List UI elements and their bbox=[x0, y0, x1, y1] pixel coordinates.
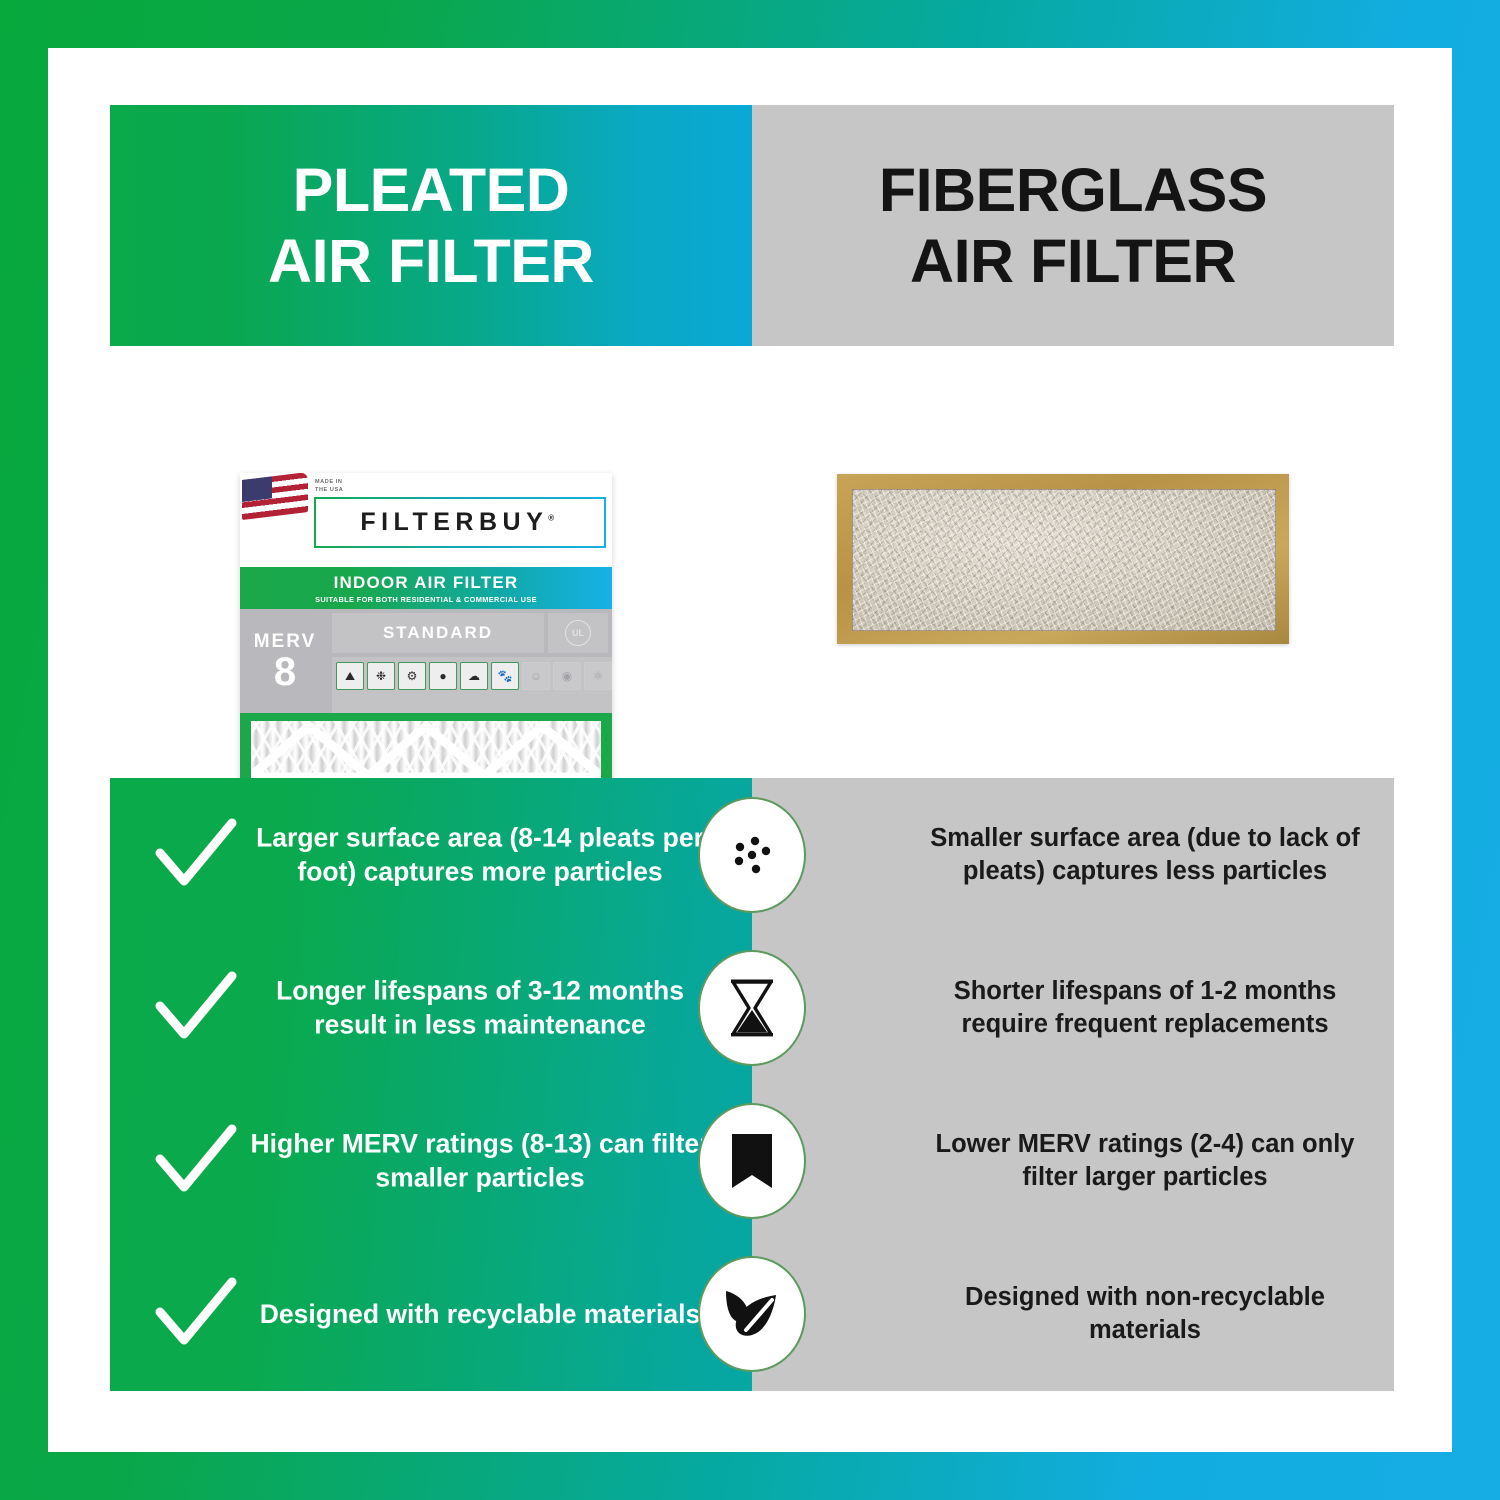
pleated-benefit-text: Higher MERV ratings (8-13) can filter sm… bbox=[240, 1126, 720, 1195]
capture-feature-icon-strip: ⛰ ❉ ⚙ ● ☁ 🐾 ☺ ◉ ⚛ bbox=[332, 657, 612, 719]
row-icon-badge bbox=[698, 1256, 806, 1372]
row-icon-badge bbox=[698, 1103, 806, 1219]
pleated-benefit-text: Larger surface area (8-14 pleats per foo… bbox=[240, 820, 720, 889]
dust-particles-icon: ☁ bbox=[460, 662, 488, 690]
pleated-benefit-text: Designed with recyclable materials bbox=[240, 1296, 720, 1330]
usa-flag-icon bbox=[242, 473, 308, 520]
made-in-line2: THE USA bbox=[315, 486, 343, 494]
leaf-icon bbox=[722, 1285, 782, 1343]
comparison-row: Higher MERV ratings (8-13) can filter sm… bbox=[110, 1084, 1394, 1237]
virus-icon: ⚛ bbox=[584, 662, 612, 690]
comparison-band: Larger surface area (8-14 pleats per foo… bbox=[110, 778, 1394, 1391]
pet-dander-icon: 🐾 bbox=[491, 662, 519, 690]
comparison-row: Longer lifespans of 3-12 months result i… bbox=[110, 931, 1394, 1084]
particles-icon bbox=[722, 825, 782, 885]
banner-title: INDOOR AIR FILTER bbox=[334, 573, 519, 593]
pleated-benefit-text: Longer lifespans of 3-12 months result i… bbox=[240, 973, 720, 1042]
indoor-air-filter-banner: INDOOR AIR FILTER SUITABLE FOR BOTH RESI… bbox=[240, 567, 612, 609]
merv-value: 8 bbox=[274, 653, 296, 691]
checkmark-icon bbox=[150, 962, 242, 1054]
fiberglass-drawback-text: Shorter lifespans of 1-2 months require … bbox=[910, 974, 1380, 1040]
fiberglass-drawback-text: Designed with non-recyclable materials bbox=[910, 1280, 1380, 1346]
fiberglass-drawback-text: Smaller surface area (due to lack of ple… bbox=[910, 821, 1380, 887]
banner-subtitle: SUITABLE FOR BOTH RESIDENTIAL & COMMERCI… bbox=[315, 595, 537, 604]
pollen-icon: ⚙ bbox=[398, 662, 426, 690]
ul-certification-badge: UL bbox=[548, 613, 608, 653]
fiberglass-product-cell bbox=[752, 346, 1394, 778]
fiberglass-title-line2: AIR FILTER bbox=[879, 226, 1267, 297]
comparison-row: Larger surface area (8-14 pleats per foo… bbox=[110, 778, 1394, 931]
infographic-canvas: PLEATED AIR FILTER FIBERGLASS AIR FILTER bbox=[110, 105, 1394, 1391]
header-fiberglass: FIBERGLASS AIR FILTER bbox=[752, 105, 1394, 346]
fiberglass-title-line1: FIBERGLASS bbox=[879, 155, 1267, 226]
filter-spec-panel: MERV 8 STANDARD UL ⛰ ❉ ⚙ ● ☁ bbox=[240, 609, 612, 713]
filterbuy-logo-box: FILTERBUY® bbox=[314, 497, 606, 548]
row-icon-badge bbox=[698, 950, 806, 1066]
checkmark-icon bbox=[150, 1268, 242, 1360]
made-in-line1: MADE IN bbox=[315, 478, 343, 486]
pleated-title-line1: PLEATED bbox=[268, 155, 594, 226]
pleated-product-cell: MADE IN THE USA FILTERBUY® INDOOR AIR FI… bbox=[110, 346, 752, 778]
header-pleated: PLEATED AIR FILTER bbox=[110, 105, 752, 346]
checkmark-icon bbox=[150, 809, 242, 901]
filter-grade-label: STANDARD bbox=[332, 613, 544, 653]
fiberglass-drawback-text: Lower MERV ratings (2-4) can only filter… bbox=[910, 1127, 1380, 1193]
smoke-icon: ☺ bbox=[522, 662, 550, 690]
filter-box-top: MADE IN THE USA FILTERBUY® bbox=[240, 473, 612, 578]
pleated-title-line2: AIR FILTER bbox=[268, 226, 594, 297]
fiberglass-mesh-texture bbox=[852, 489, 1276, 631]
filterbuy-wordmark: FILTERBUY® bbox=[360, 508, 559, 537]
dust-and-lint-icon: ⛰ bbox=[336, 662, 364, 690]
checkmark-icon bbox=[150, 1115, 242, 1207]
row-icon-badge bbox=[698, 797, 806, 913]
fiberglass-title: FIBERGLASS AIR FILTER bbox=[879, 155, 1267, 297]
fiberglass-filter-product-image bbox=[837, 474, 1289, 644]
header-band: PLEATED AIR FILTER FIBERGLASS AIR FILTER bbox=[110, 105, 1394, 346]
comparison-row: Designed with recyclable materials Desig… bbox=[110, 1237, 1394, 1390]
bookmark-icon bbox=[728, 1131, 776, 1191]
bacteria-icon: ◉ bbox=[553, 662, 581, 690]
made-in-usa-text: MADE IN THE USA bbox=[315, 478, 343, 495]
hourglass-icon bbox=[725, 978, 779, 1038]
merv-rating-block: MERV 8 bbox=[240, 609, 330, 713]
mold-icon: ● bbox=[429, 662, 457, 690]
outer-gradient-frame: PLEATED AIR FILTER FIBERGLASS AIR FILTER bbox=[0, 0, 1500, 1500]
pleated-title: PLEATED AIR FILTER bbox=[268, 155, 594, 297]
dust-mites-icon: ❉ bbox=[367, 662, 395, 690]
product-image-band: MADE IN THE USA FILTERBUY® INDOOR AIR FI… bbox=[110, 346, 1394, 778]
ul-mark-icon: UL bbox=[565, 620, 591, 646]
